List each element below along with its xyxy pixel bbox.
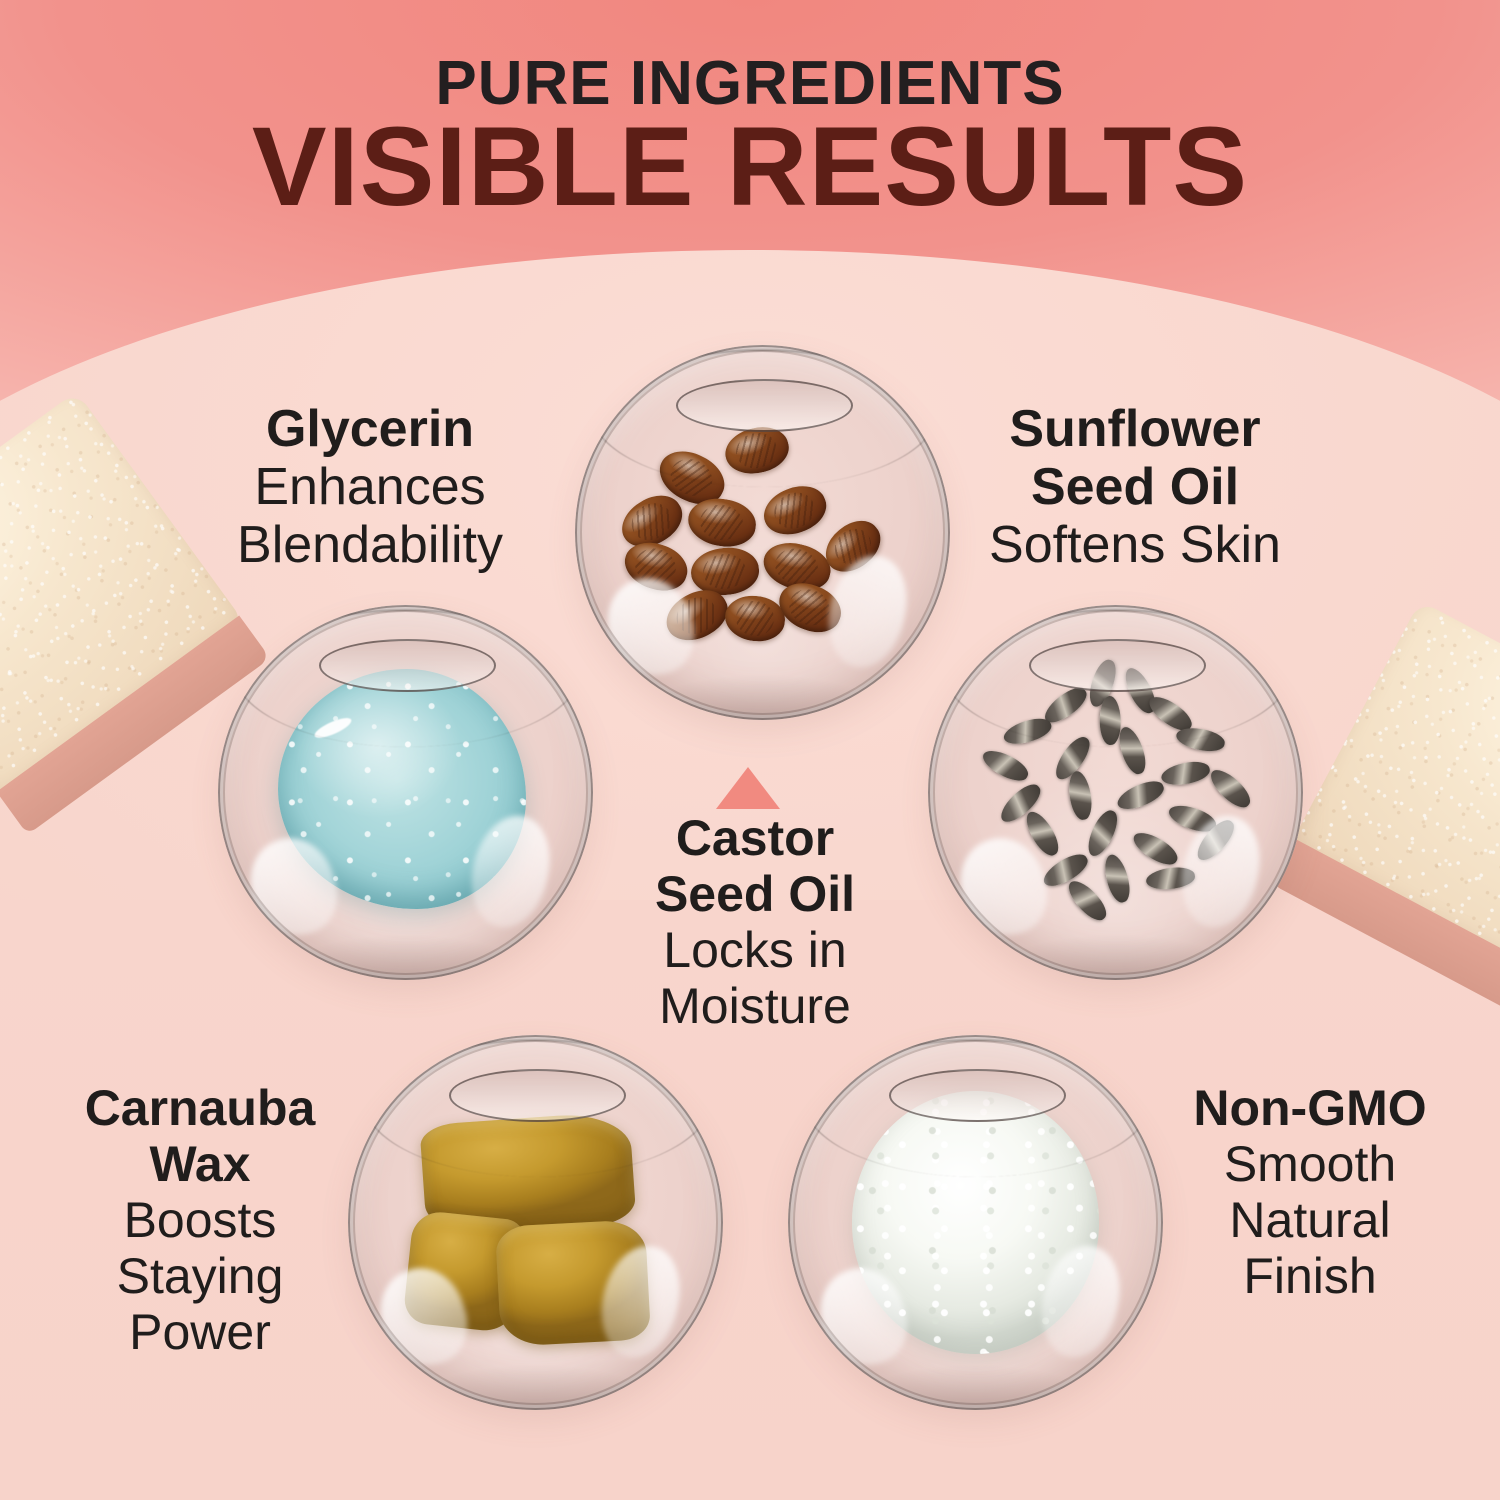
ingredient-sphere-glycerin — [218, 605, 593, 980]
sphere-outer-rim — [788, 1035, 1163, 1410]
castor-desc-line-1: Locks in — [600, 922, 910, 978]
castor-desc-line-2: Moisture — [600, 978, 910, 1034]
carnauba-desc-line-1: Boosts — [40, 1192, 360, 1248]
sphere-outer-rim — [928, 605, 1303, 980]
glycerin-desc-line-2: Blendability — [170, 516, 570, 574]
castor-pointer-triangle-icon — [716, 767, 780, 809]
ingredient-label-nongmo: Non-GMO Smooth Natural Finish — [1150, 1080, 1470, 1304]
ingredient-sphere-sunflower — [928, 605, 1303, 980]
headline-primary: VISIBLE RESULTS — [0, 110, 1500, 224]
ingredient-sphere-carnauba — [348, 1035, 723, 1410]
ingredient-label-castor: Castor Seed Oil Locks in Moisture — [600, 810, 910, 1034]
castor-title-line-2: Seed Oil — [600, 866, 910, 922]
glycerin-title: Glycerin — [170, 400, 570, 458]
nongmo-title: Non-GMO — [1150, 1080, 1470, 1136]
sphere-outer-rim — [348, 1035, 723, 1410]
ingredient-label-glycerin: Glycerin Enhances Blendability — [170, 400, 570, 575]
sunflower-title-line-2: Seed Oil — [940, 458, 1330, 516]
sphere-outer-rim — [575, 345, 950, 720]
ingredient-sphere-nongmo — [788, 1035, 1163, 1410]
glycerin-desc-line-1: Enhances — [170, 458, 570, 516]
ingredient-label-carnauba: Carnauba Wax Boosts Staying Power — [40, 1080, 360, 1360]
nongmo-desc-line-3: Finish — [1150, 1248, 1470, 1304]
nongmo-desc-line-2: Natural — [1150, 1192, 1470, 1248]
ingredient-label-sunflower: Sunflower Seed Oil Softens Skin — [940, 400, 1330, 575]
sunflower-title-line-1: Sunflower — [940, 400, 1330, 458]
castor-title-line-1: Castor — [600, 810, 910, 866]
carnauba-desc-line-3: Power — [40, 1304, 360, 1360]
sphere-outer-rim — [218, 605, 593, 980]
ingredient-sphere-castor — [575, 345, 950, 720]
sunflower-desc-line-1: Softens Skin — [940, 516, 1330, 574]
carnauba-title-line-1: Carnauba — [40, 1080, 360, 1136]
carnauba-title-line-2: Wax — [40, 1136, 360, 1192]
carnauba-desc-line-2: Staying — [40, 1248, 360, 1304]
nongmo-desc-line-1: Smooth — [1150, 1136, 1470, 1192]
infographic-canvas: PURE INGREDIENTS VISIBLE RESULTS — [0, 0, 1500, 1500]
